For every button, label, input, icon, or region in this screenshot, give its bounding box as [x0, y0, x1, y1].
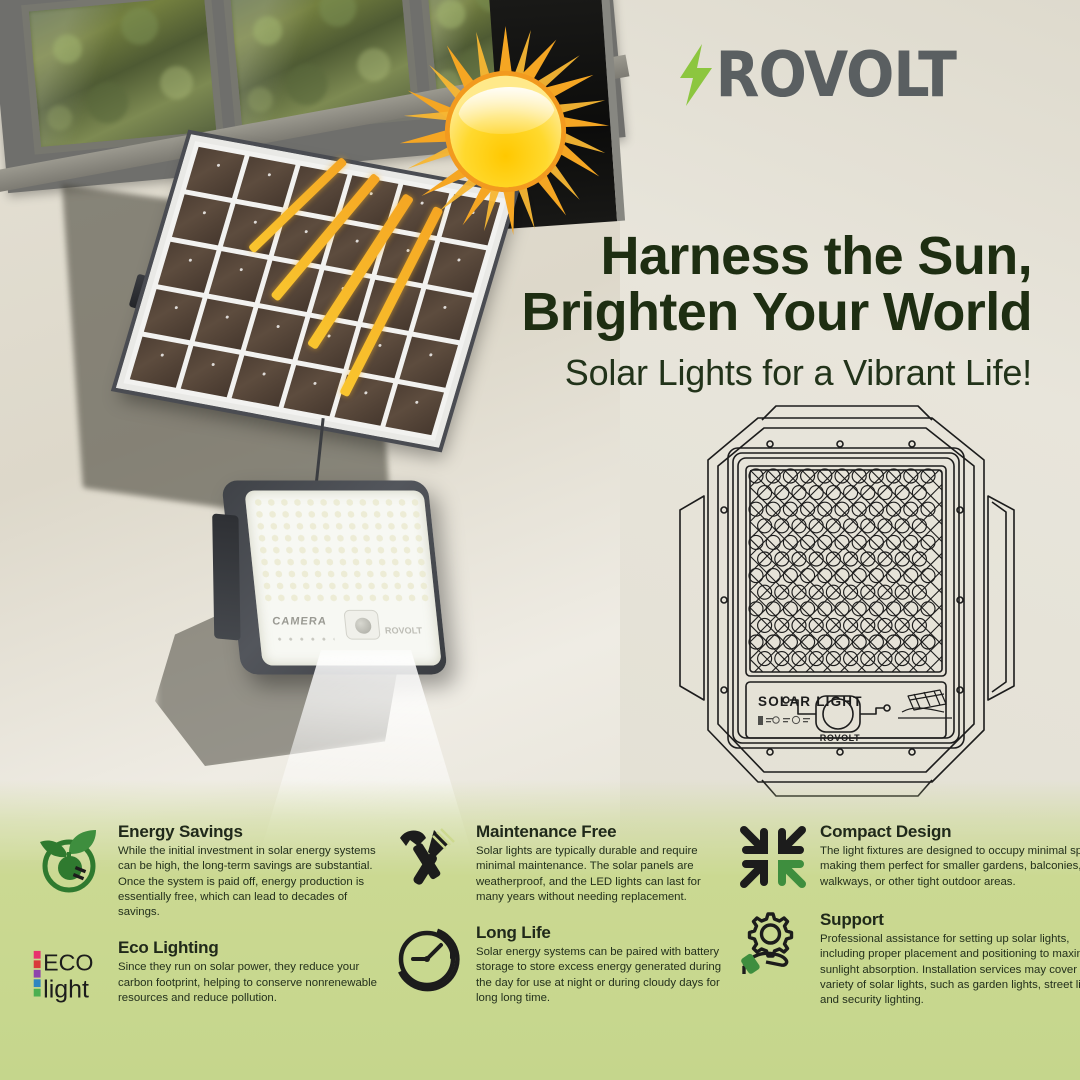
feature-title: Support	[820, 910, 1080, 930]
feature-title: Maintenance Free	[476, 822, 724, 842]
eco-logo-top-text: ECO	[43, 950, 93, 976]
gear-in-hand-icon	[738, 910, 808, 980]
floodlight-spec-icons	[274, 635, 335, 644]
floodlight-mount-arm	[212, 513, 240, 640]
feature-body: The light fixtures are designed to occup…	[820, 844, 1080, 890]
solar-cell	[334, 375, 393, 426]
solar-cell	[237, 156, 296, 207]
solar-cell	[246, 308, 305, 359]
floodlight-photo: CAMERA ROVOLT	[221, 481, 448, 675]
compress-arrows-icon	[738, 822, 808, 892]
lineart-title: SOLAR LIGHT	[758, 694, 863, 709]
feature-eco-lighting: ECO light Eco Lighting Since they run on…	[32, 938, 384, 1012]
headline-line-2: Brighten Your World	[521, 282, 1032, 342]
feature-column-2: Maintenance Free Solar lights are typica…	[384, 822, 724, 1066]
led-array	[251, 496, 429, 603]
headline-block: Harness the Sun, Brighten Your World Sol…	[412, 228, 1032, 394]
camera-lens	[343, 610, 380, 640]
eco-light-logo-icon: ECO light	[32, 938, 106, 1012]
solar-flood-light-lineart: SOLAR LIGHT ROVOLT	[640, 400, 1040, 820]
feature-title: Energy Savings	[118, 822, 384, 842]
solar-cell	[195, 299, 254, 350]
poster-canvas: CAMERA ROVOLT	[0, 0, 1080, 1080]
solar-cell	[158, 242, 217, 293]
solar-cell	[144, 289, 203, 340]
feature-column-3: Compact Design The light fixtures are de…	[724, 822, 1080, 1066]
brand-logo: ROVOLT	[676, 38, 954, 111]
headline-subtitle: Solar Lights for a Vibrant Life!	[412, 352, 1032, 394]
features-panel: Energy Savings While the initial investm…	[0, 780, 1080, 1080]
floodlight-camera-label: CAMERA	[272, 616, 328, 628]
lineart-brand: ROVOLT	[820, 733, 860, 743]
solar-cell	[283, 365, 342, 416]
feature-energy-savings: Energy Savings While the initial investm…	[32, 822, 384, 920]
feature-title: Long Life	[476, 923, 724, 943]
brand-name: ROVOLT	[716, 38, 956, 111]
feature-body: Solar lights are typically durable and r…	[476, 844, 724, 905]
feature-body: Professional assistance for setting up s…	[820, 932, 1080, 1008]
solar-cell	[181, 346, 240, 397]
floodlight-brand-mark: ROVOLT	[384, 626, 422, 636]
feature-body: Since they run on solar power, they redu…	[118, 960, 384, 1006]
feature-body: While the initial investment in solar en…	[118, 844, 384, 920]
feature-long-life: Long Life Solar energy systems can be pa…	[394, 923, 724, 1006]
lightning-bolt-icon	[676, 44, 716, 106]
feature-column-1: Energy Savings While the initial investm…	[32, 822, 384, 1066]
solar-cell	[186, 147, 245, 198]
feature-title: Eco Lighting	[118, 938, 384, 958]
solar-cell	[232, 356, 291, 407]
solar-cell	[209, 251, 268, 302]
feature-body: Solar energy systems can be paired with …	[476, 945, 724, 1006]
clock-refresh-icon	[394, 923, 464, 993]
floodlight-face: CAMERA ROVOLT	[244, 490, 441, 665]
eco-logo-bottom-text: light	[43, 976, 89, 1004]
feature-title: Compact Design	[820, 822, 1080, 842]
solar-cell	[172, 194, 231, 245]
feature-compact-design: Compact Design The light fixtures are de…	[738, 822, 1080, 892]
headline-line-1: Harness the Sun,	[600, 226, 1032, 286]
feature-maintenance-free: Maintenance Free Solar lights are typica…	[394, 822, 724, 905]
feature-support: Support Professional assistance for sett…	[738, 910, 1080, 1008]
solar-cell	[130, 337, 189, 388]
hammer-screwdriver-icon	[394, 822, 464, 892]
sun-icon	[398, 24, 613, 239]
window-pane	[21, 0, 224, 155]
leaf-plug-icon	[32, 822, 106, 896]
